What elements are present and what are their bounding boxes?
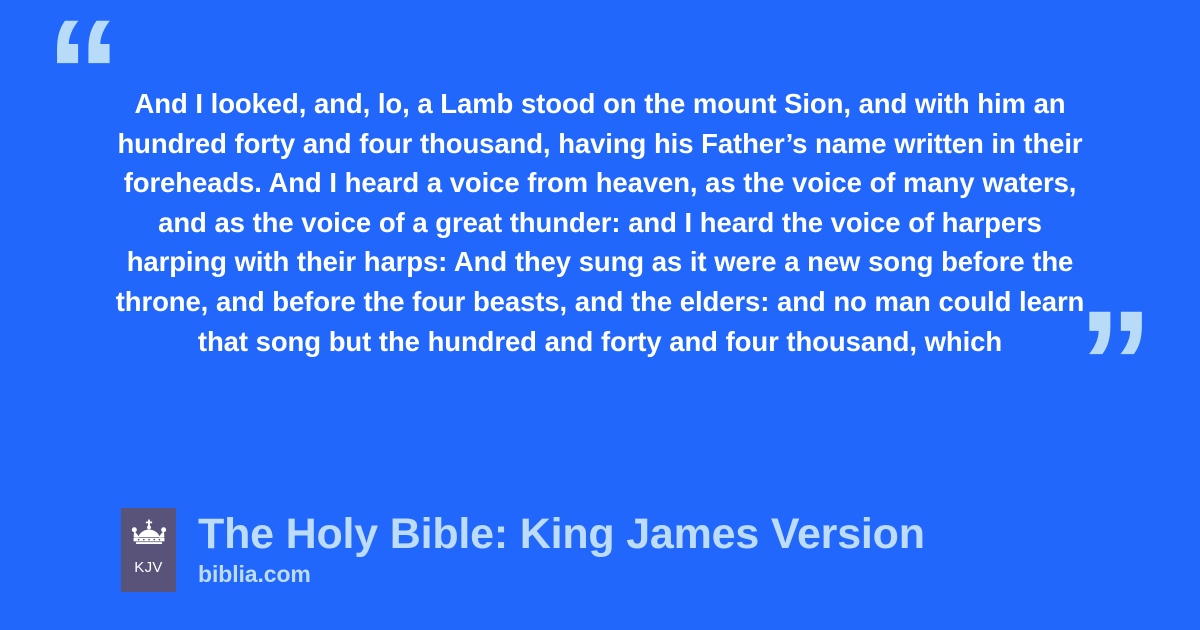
bible-quote-card: “ And I looked, and, lo, a Lamb stood on… <box>0 0 1200 630</box>
kjv-abbreviation-label: KJV <box>134 560 162 575</box>
opening-quote-mark-icon: “ <box>46 0 119 147</box>
quote-block: And I looked, and, lo, a Lamb stood on t… <box>110 84 1090 361</box>
footer: KJV The Holy Bible: King James Version b… <box>121 508 925 592</box>
quote-text: And I looked, and, lo, a Lamb stood on t… <box>110 84 1090 361</box>
crown-icon <box>130 519 168 549</box>
kjv-logo-badge: KJV <box>121 508 176 592</box>
closing-quote-mark-icon: ” <box>1078 288 1151 438</box>
footer-text-group: The Holy Bible: King James Version bibli… <box>198 508 925 588</box>
bible-title: The Holy Bible: King James Version <box>198 509 925 559</box>
website-label: biblia.com <box>198 560 925 588</box>
